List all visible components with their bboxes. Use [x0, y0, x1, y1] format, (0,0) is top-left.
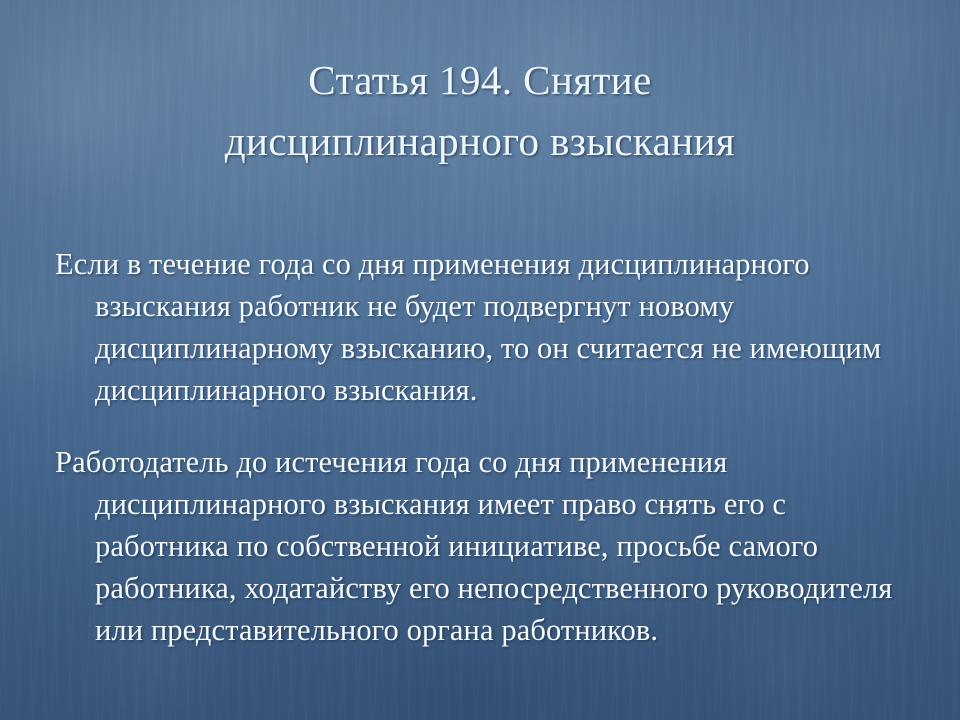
- slide-content: Статья 194. Снятие дисциплинарного взыск…: [0, 0, 960, 720]
- body-paragraph: Если в течение года со дня применения ди…: [55, 243, 915, 411]
- body-paragraph: Работодатель до истечения года со дня пр…: [55, 441, 915, 651]
- slide-body: Если в течение года со дня применения ди…: [55, 212, 915, 682]
- slide-title-line-1: Статья 194. Снятие: [60, 50, 900, 111]
- slide-title: Статья 194. Снятие дисциплинарного взыск…: [60, 50, 900, 172]
- presentation-slide: Статья 194. Снятие дисциплинарного взыск…: [0, 0, 960, 720]
- slide-title-line-2: дисциплинарного взыскания: [60, 111, 900, 172]
